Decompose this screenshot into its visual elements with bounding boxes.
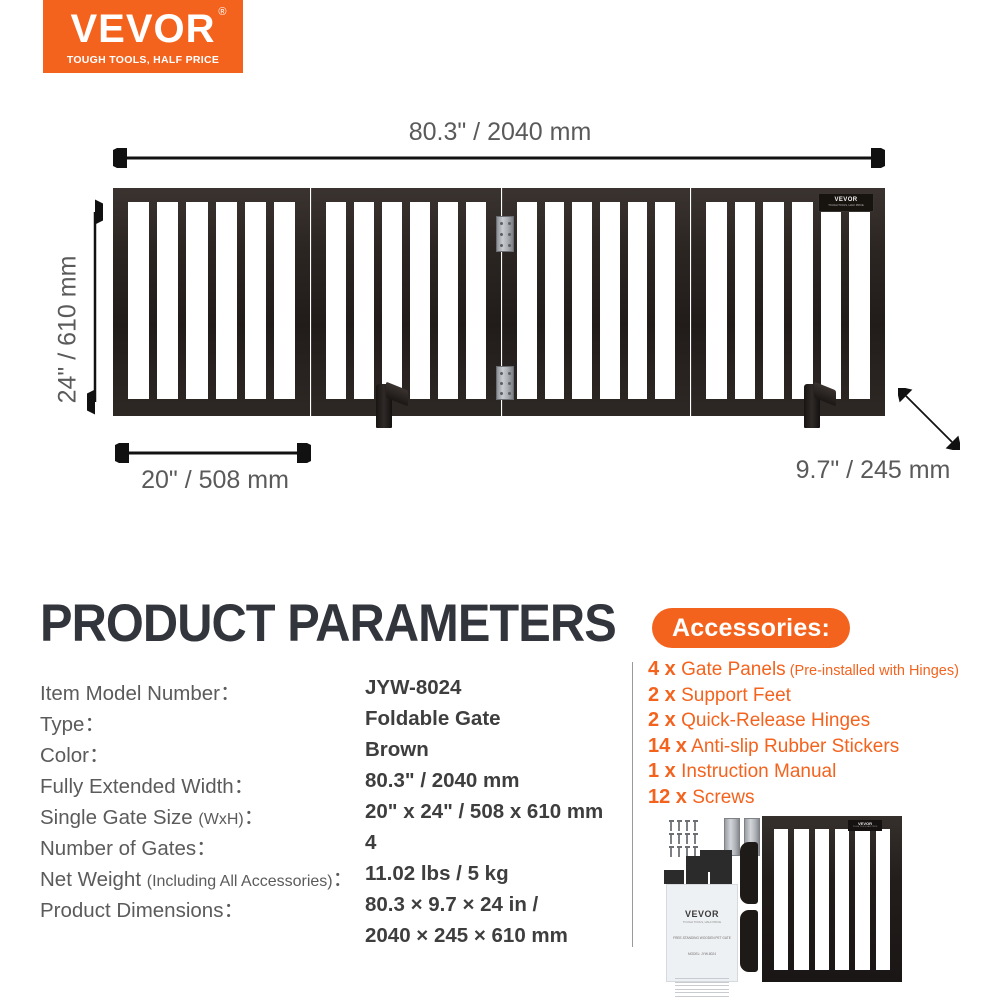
gate-slat xyxy=(326,202,346,399)
gate-slat xyxy=(735,202,756,399)
accessories-photo: VEVOR TOUGH TOOLS, HALF PRICE FREE-STAND… xyxy=(648,812,988,987)
rubber-sticker-icon xyxy=(664,870,684,884)
accessory-qty: 14 x xyxy=(648,735,687,757)
list-item: 2 x Quick-Release Hinges xyxy=(648,709,993,735)
param-label: Single Gate Size xyxy=(40,806,198,829)
accessory-qty: 2 x xyxy=(648,709,676,731)
param-colon: ： xyxy=(196,837,217,860)
param-label: Number of Gates xyxy=(40,837,196,860)
gate-slat xyxy=(438,202,458,399)
gate-panel-3 xyxy=(502,188,690,416)
param-colon: ： xyxy=(89,744,110,767)
manual-logo: VEVOR xyxy=(685,909,719,919)
gate-slat xyxy=(572,202,592,399)
accessories-heading-text: Accessories: xyxy=(672,614,830,643)
support-foot-right xyxy=(804,384,830,428)
accessory-name: Anti-slip Rubber Stickers xyxy=(691,736,899,757)
table-row: Net Weight (Including All Accessories)： … xyxy=(40,862,620,893)
logo-wordmark-text: VEVOR xyxy=(70,7,215,51)
dimension-width-arrow xyxy=(113,157,885,159)
param-label: Item Model Number xyxy=(40,682,220,705)
param-colon: ： xyxy=(223,899,244,922)
param-colon: ： xyxy=(333,868,354,891)
gate-slat xyxy=(821,202,842,399)
gate-label-tagline: TOUGH TOOLS, HALF PRICE xyxy=(828,204,863,208)
page-title: PRODUCT PARAMETERS xyxy=(40,593,616,654)
param-label: Fully Extended Width xyxy=(40,775,234,798)
table-row: Fully Extended Width： 80.3" / 2040 mm xyxy=(40,769,620,800)
gate-panel-4 xyxy=(691,188,885,416)
gate-slat xyxy=(382,202,402,399)
dimension-height-arrow xyxy=(87,198,103,416)
panel-slat xyxy=(815,829,829,970)
gate-slat xyxy=(763,202,784,399)
accessories-heading-badge: Accessories: xyxy=(652,608,850,648)
support-foot-part-icon xyxy=(740,842,758,904)
accessory-qty: 2 x xyxy=(648,684,676,706)
param-value: 20" x 24" / 508 x 610 mm xyxy=(365,800,603,824)
gate-label-brand: VEVOR xyxy=(834,197,857,203)
param-value: 80.3 × 9.7 × 24 in / xyxy=(365,893,538,917)
gate-slat xyxy=(245,202,266,399)
param-value: 4 xyxy=(365,831,376,855)
table-row: Single Gate Size (WxH)： 20" x 24" / 508 … xyxy=(40,800,620,831)
pet-gate-image: VEVOR TOUGH TOOLS, HALF PRICE xyxy=(113,188,885,416)
manual-text-lines xyxy=(675,978,728,999)
accessory-note: (Pre-installed with Hinges) xyxy=(786,663,959,679)
param-value: Foldable Gate xyxy=(365,707,501,731)
panel-slat xyxy=(835,829,849,970)
param-colon: ： xyxy=(244,806,265,829)
gate-panel-part-icon xyxy=(762,816,902,982)
product-photo-area: 80.3" / 2040 mm 24" / 610 mm xyxy=(0,100,1000,520)
panel-label-tagline: TOUGH TOOLS, HALF PRICE xyxy=(853,826,878,829)
accessory-name: Screws xyxy=(692,787,754,808)
param-value: 2040 × 245 × 610 mm xyxy=(365,924,568,948)
gate-panel-1 xyxy=(113,188,310,416)
table-row: Number of Gates： 4 xyxy=(40,831,620,862)
quick-release-hinge-upper-icon xyxy=(496,216,514,252)
gate-panel-2 xyxy=(311,188,501,416)
gate-slat xyxy=(517,202,537,399)
param-label: Net Weight xyxy=(40,868,147,891)
gate-slat xyxy=(186,202,207,399)
list-item: 12 x Screws xyxy=(648,786,993,812)
gate-slat xyxy=(466,202,486,399)
accessory-qty: 4 x xyxy=(648,658,676,680)
dimension-depth-label: 9.7" / 245 mm xyxy=(748,456,998,485)
table-row: Item Model Number： JYW-8024 xyxy=(40,676,620,707)
quick-release-hinge-lower-icon xyxy=(496,366,514,400)
manual-tagline: TOUGH TOOLS, HALF PRICE xyxy=(683,920,721,924)
param-colon: ： xyxy=(84,713,105,736)
accessory-name: Quick-Release Hinges xyxy=(681,710,870,731)
accessory-name: Gate Panels xyxy=(681,659,786,680)
dimension-single-panel-arrow xyxy=(115,452,311,454)
table-row: Type： Foldable Gate xyxy=(40,707,620,738)
param-sublabel: (WxH) xyxy=(198,811,243,828)
dimension-single-panel-label: 20" / 508 mm xyxy=(110,466,320,495)
logo-tagline: TOUGH TOOLS, HALF PRICE xyxy=(67,54,219,66)
list-item: 2 x Support Feet xyxy=(648,684,993,710)
param-colon: ： xyxy=(234,775,255,798)
panel-seam xyxy=(690,188,692,416)
gate-slat xyxy=(545,202,565,399)
gate-slat xyxy=(216,202,237,399)
panel-seam xyxy=(310,188,312,416)
rubber-sticker-icon xyxy=(700,850,732,872)
manual-title: FREE-STANDING WOODEN PET GATE xyxy=(673,936,731,940)
panel-slat xyxy=(855,829,869,970)
table-row: 2040 × 245 × 610 mm xyxy=(40,924,620,955)
list-item: 4 x Gate Panels (Pre-installed with Hing… xyxy=(648,658,993,684)
accessory-qty: 12 x xyxy=(648,786,687,808)
gate-slat xyxy=(128,202,149,399)
dimension-height-label: 24" / 610 mm xyxy=(54,220,83,440)
param-label: Type xyxy=(40,713,84,736)
parameters-table: Item Model Number： JYW-8024 Type： Foldab… xyxy=(40,676,620,955)
table-row: Color： Brown xyxy=(40,738,620,769)
param-value: Brown xyxy=(365,738,429,762)
gate-slat xyxy=(706,202,727,399)
gate-slat xyxy=(600,202,620,399)
vevor-logo: VEVOR ® TOUGH TOOLS, HALF PRICE xyxy=(43,0,243,73)
gate-slat xyxy=(628,202,648,399)
instruction-manual-icon: VEVOR TOUGH TOOLS, HALF PRICE FREE-STAND… xyxy=(666,884,738,982)
gate-slat xyxy=(792,202,813,399)
support-foot-left xyxy=(376,384,402,428)
param-label: Product Dimensions xyxy=(40,899,223,922)
support-foot-part-icon xyxy=(740,910,758,972)
section-divider xyxy=(632,662,633,947)
panel-photo-vevor-label: VEVOR TOUGH TOOLS, HALF PRICE xyxy=(848,820,882,831)
gate-slat xyxy=(354,202,374,399)
gate-slat xyxy=(655,202,675,399)
gate-slat xyxy=(410,202,430,399)
logo-wordmark: VEVOR ® xyxy=(70,9,215,49)
param-value: 80.3" / 2040 mm xyxy=(365,769,519,793)
panel-slat xyxy=(774,829,788,970)
registered-trademark-icon: ® xyxy=(218,7,227,18)
param-label: Color xyxy=(40,744,89,767)
gate-slat xyxy=(849,202,870,399)
list-item: 14 x Anti-slip Rubber Stickers xyxy=(648,735,993,761)
gate-vevor-label: VEVOR TOUGH TOOLS, HALF PRICE xyxy=(818,193,874,212)
param-sublabel: (Including All Accessories) xyxy=(147,873,333,890)
accessory-name: Support Feet xyxy=(681,685,791,706)
gate-slat xyxy=(274,202,295,399)
param-value: 11.02 lbs / 5 kg xyxy=(365,862,509,886)
panel-slat xyxy=(876,829,890,970)
param-colon: ： xyxy=(220,682,241,705)
param-value: JYW-8024 xyxy=(365,676,461,700)
table-row: Product Dimensions： 80.3 × 9.7 × 24 in / xyxy=(40,893,620,924)
list-item: 1 x Instruction Manual xyxy=(648,760,993,786)
manual-model: MODEL: JYW-8024 xyxy=(688,952,716,956)
dimension-depth-arrow xyxy=(898,388,960,450)
accessory-name: Instruction Manual xyxy=(681,761,836,782)
accessory-qty: 1 x xyxy=(648,760,676,782)
gate-slat xyxy=(157,202,178,399)
dimension-width-label: 80.3" / 2040 mm xyxy=(0,118,1000,147)
panel-slat xyxy=(794,829,808,970)
accessories-list: 4 x Gate Panels (Pre-installed with Hing… xyxy=(648,658,993,811)
